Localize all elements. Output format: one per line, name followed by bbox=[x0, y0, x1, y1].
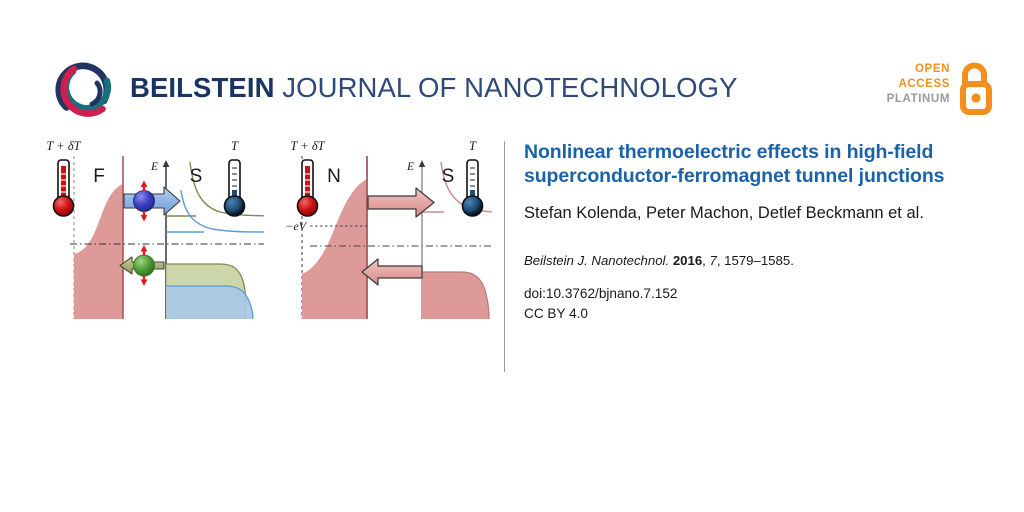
fs-f-distribution-fill bbox=[74, 184, 123, 319]
oa-line-platinum: PLATINUM bbox=[887, 92, 950, 107]
oa-line-access: ACCESS bbox=[887, 77, 950, 92]
fs-spin-down-particle bbox=[134, 245, 155, 286]
fs-label-F: F bbox=[93, 166, 105, 187]
ns-cold-temp-label: T bbox=[469, 139, 477, 153]
fs-hot-thermometer bbox=[54, 160, 74, 216]
ns-arrow-left bbox=[362, 259, 422, 285]
citation-year: 2016 bbox=[673, 253, 702, 268]
citation-volume: 7 bbox=[710, 253, 717, 268]
open-padlock-icon bbox=[954, 62, 994, 118]
ns-bias-label: −eV bbox=[285, 219, 307, 233]
citation-pages: 1579–1585 bbox=[724, 253, 790, 268]
fs-dos-blue-upper-peak bbox=[181, 190, 264, 232]
ns-label-S: S bbox=[442, 166, 455, 187]
ns-energy-axis-arrowhead bbox=[419, 160, 425, 167]
open-access-badge: OPEN ACCESS PLATINUM bbox=[884, 62, 994, 120]
graphical-abstract-figure: F S E T + δT bbox=[24, 134, 494, 324]
wordmark-bold: BEILSTEIN bbox=[130, 72, 275, 103]
fs-spin-up-particle bbox=[134, 181, 155, 222]
wordmark-light: JOURNAL OF NANOTECHNOLOGY bbox=[275, 72, 738, 103]
panel-ns: N S E −eV T + δT bbox=[285, 139, 492, 319]
open-access-text: OPEN ACCESS PLATINUM bbox=[887, 62, 950, 107]
fs-cold-temp-label: T bbox=[231, 139, 239, 153]
fs-label-E: E bbox=[150, 161, 158, 173]
fs-energy-axis-arrowhead bbox=[163, 160, 170, 167]
ns-label-N: N bbox=[327, 166, 341, 187]
ns-hot-temp-label: T + δT bbox=[290, 139, 325, 153]
citation-journal: Beilstein J. Nanotechnol. bbox=[524, 253, 669, 268]
vertical-divider bbox=[504, 141, 505, 372]
beilstein-spiral-logo-icon bbox=[52, 57, 118, 123]
fs-label-S: S bbox=[190, 166, 203, 187]
ns-label-E: E bbox=[406, 161, 414, 173]
article-title[interactable]: Nonlinear thermoelectric effects in high… bbox=[524, 141, 972, 188]
journal-wordmark: BEILSTEIN JOURNAL OF NANOTECHNOLOGY bbox=[130, 72, 738, 104]
fs-hot-temp-label: T + δT bbox=[46, 139, 81, 153]
fs-dos-blue-filled bbox=[166, 286, 253, 319]
article-metadata-panel: Nonlinear thermoelectric effects in high… bbox=[524, 141, 972, 323]
article-citation: Beilstein J. Nanotechnol. 2016, 7, 1579–… bbox=[524, 252, 972, 270]
panel-fs: F S E T + δT bbox=[46, 139, 264, 319]
oa-line-open: OPEN bbox=[887, 62, 950, 77]
article-doi[interactable]: doi:10.3762/bjnano.7.152 bbox=[524, 284, 972, 303]
article-authors: Stefan Kolenda, Peter Machon, Detlef Bec… bbox=[524, 202, 964, 225]
fs-cold-thermometer bbox=[225, 160, 245, 216]
ns-cold-thermometer bbox=[463, 160, 483, 216]
ns-hot-thermometer bbox=[298, 160, 318, 216]
article-license[interactable]: CC BY 4.0 bbox=[524, 304, 972, 323]
page-header: BEILSTEIN JOURNAL OF NANOTECHNOLOGY OPEN… bbox=[0, 0, 1024, 136]
